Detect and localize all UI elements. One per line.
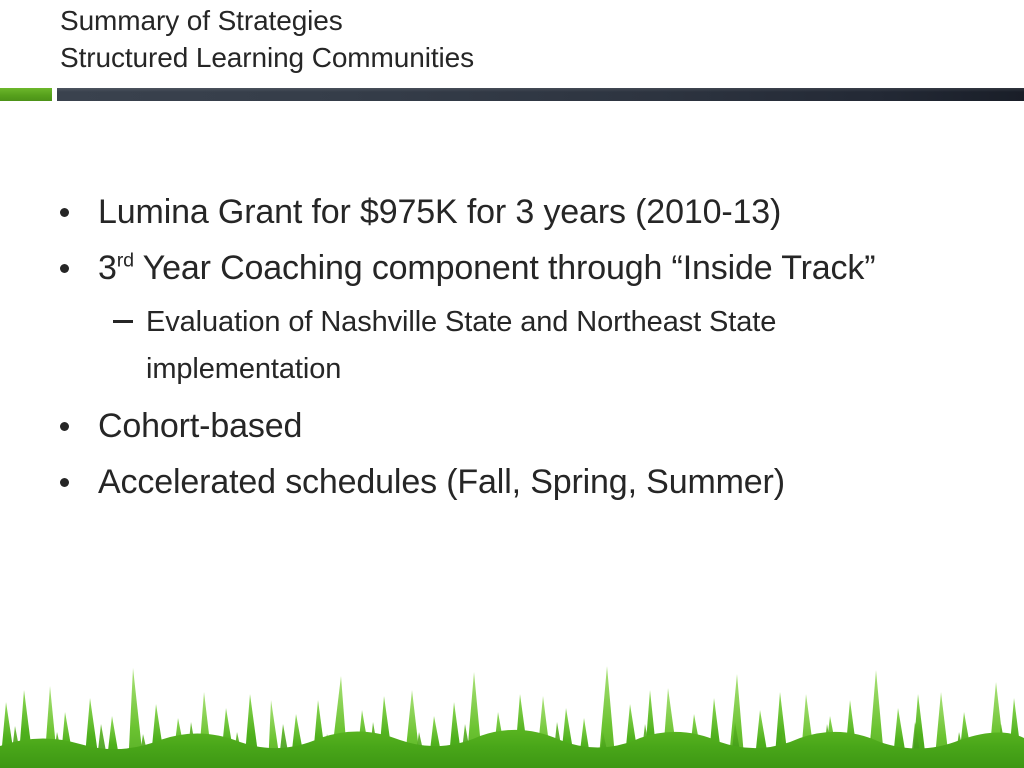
list-item-label: 3rd Year Coaching component through “Ins… <box>98 241 875 295</box>
list-item: 3rd Year Coaching component through “Ins… <box>60 241 960 295</box>
list-item-label-rest: Year Coaching component through “Inside … <box>134 249 875 287</box>
ordinal-suffix: rd <box>117 250 134 272</box>
bullet-dot-icon <box>60 185 98 239</box>
bullet-dot-icon <box>60 399 98 453</box>
sub-list-item: Evaluation of Nashville State and Northe… <box>113 299 960 393</box>
list-item-label: Accelerated schedules (Fall, Spring, Sum… <box>98 455 785 509</box>
slide-body: Lumina Grant for $975K for 3 years (2010… <box>60 185 960 511</box>
bullet-dot-icon <box>60 241 98 295</box>
divider-bar-dark <box>57 88 1024 101</box>
title-line-2: Structured Learning Communities <box>60 39 990 76</box>
bullet-dot-icon <box>60 455 98 509</box>
sub-list-item-label: Evaluation of Nashville State and Northe… <box>146 299 946 393</box>
list-item-label: Cohort-based <box>98 399 302 453</box>
divider-accent-green <box>0 88 52 101</box>
list-item: Cohort-based <box>60 399 960 453</box>
list-item: Accelerated schedules (Fall, Spring, Sum… <box>60 455 960 509</box>
grass-svg <box>0 628 1024 768</box>
title-divider <box>0 88 1024 101</box>
list-item-label: Lumina Grant for $975K for 3 years (2010… <box>98 185 781 239</box>
slide-title: Summary of Strategies Structured Learnin… <box>60 2 990 76</box>
slide-canvas: Summary of Strategies Structured Learnin… <box>0 0 1024 768</box>
bullet-dash-icon <box>113 299 146 346</box>
ordinal-number: 3 <box>98 249 117 287</box>
title-line-1: Summary of Strategies <box>60 2 990 39</box>
list-item: Lumina Grant for $975K for 3 years (2010… <box>60 185 960 239</box>
grass-decoration-icon <box>0 628 1024 768</box>
